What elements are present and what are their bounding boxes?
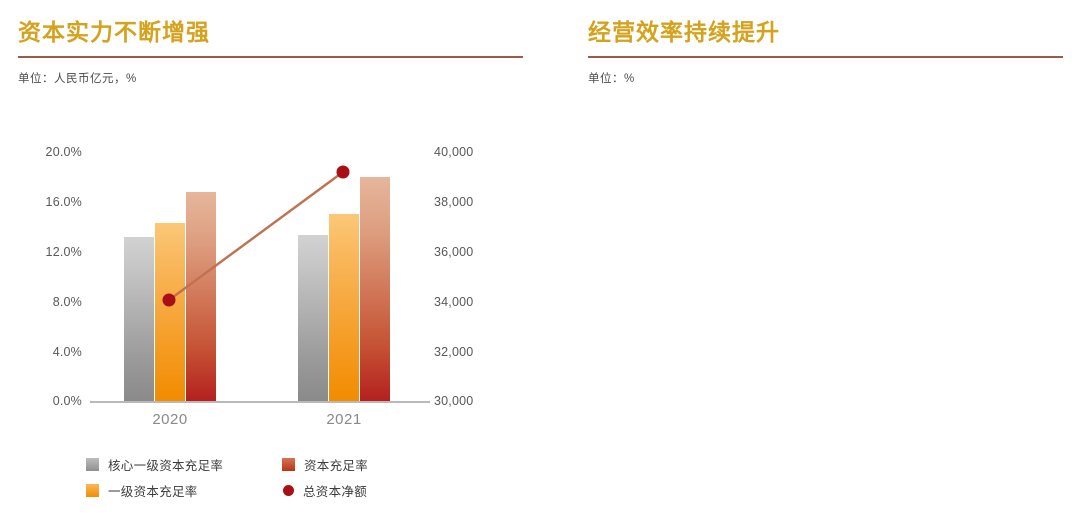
bar-2021-core-tier1 <box>298 235 328 401</box>
left-panel-header: 资本实力不断增强 单位：人民币亿元，% <box>18 18 523 86</box>
x-tick-2021-left: 2021 <box>294 411 394 428</box>
legend-item-net-capital[interactable]: 总资本净额 <box>282 481 367 500</box>
legend-row-2: 一级资本充足率 总资本净额 <box>86 481 466 500</box>
bar-2021-tier1 <box>329 214 359 401</box>
page-title-right: 经营效率持续提升 <box>588 18 1063 46</box>
panel-operating-efficiency: 经营效率持续提升 单位：% 12.15% 12.07% 12.00% 11.92… <box>560 0 1080 525</box>
legend-label-tier1: 一级资本充足率 <box>108 481 198 500</box>
legend-label-core-tier1: 核心一级资本充足率 <box>108 455 223 474</box>
legend-row-1: 核心一级资本充足率 资本充足率 <box>86 455 466 474</box>
chart-capital-strength: 20.0% 16.0% 12.0% 8.0% 4.0% 0.0% 40,000 … <box>0 135 560 425</box>
x-axis-baseline-left <box>90 401 430 403</box>
bar-2020-tier1 <box>155 223 185 401</box>
legend-left: 核心一级资本充足率 资本充足率 一级资本充足率 总资本净额 <box>86 455 466 507</box>
right-panel-header: 经营效率持续提升 单位：% <box>588 18 1063 86</box>
legend-item-core-tier1[interactable]: 核心一级资本充足率 <box>86 455 282 474</box>
orange-square-icon <box>86 484 99 497</box>
unit-label-right: 单位：% <box>588 70 1063 86</box>
x-tick-2020-left: 2020 <box>120 411 220 428</box>
title-divider-left <box>18 56 523 58</box>
bar-2020-core-tier1 <box>124 237 154 401</box>
bar-2020-total-car <box>186 192 216 401</box>
panel-capital-strength: 资本实力不断增强 单位：人民币亿元，% 20.0% 16.0% 12.0% 8.… <box>0 0 560 525</box>
bar-2021-total-car <box>360 177 390 401</box>
legend-item-total-car[interactable]: 资本充足率 <box>282 455 368 474</box>
bars-layer-left <box>0 135 560 401</box>
legend-item-tier1[interactable]: 一级资本充足率 <box>86 481 282 500</box>
legend-label-net-capital: 总资本净额 <box>303 481 367 500</box>
title-divider-right <box>588 56 1063 58</box>
page-title-left: 资本实力不断增强 <box>18 18 523 46</box>
legend-label-total-car: 资本充足率 <box>304 455 368 474</box>
red-square-icon <box>282 458 295 471</box>
unit-label-left: 单位：人民币亿元，% <box>18 70 523 86</box>
gray-square-icon <box>86 458 99 471</box>
red-dot-icon <box>283 485 294 496</box>
slide-root: 资本实力不断增强 单位：人民币亿元，% 20.0% 16.0% 12.0% 8.… <box>0 0 1080 525</box>
